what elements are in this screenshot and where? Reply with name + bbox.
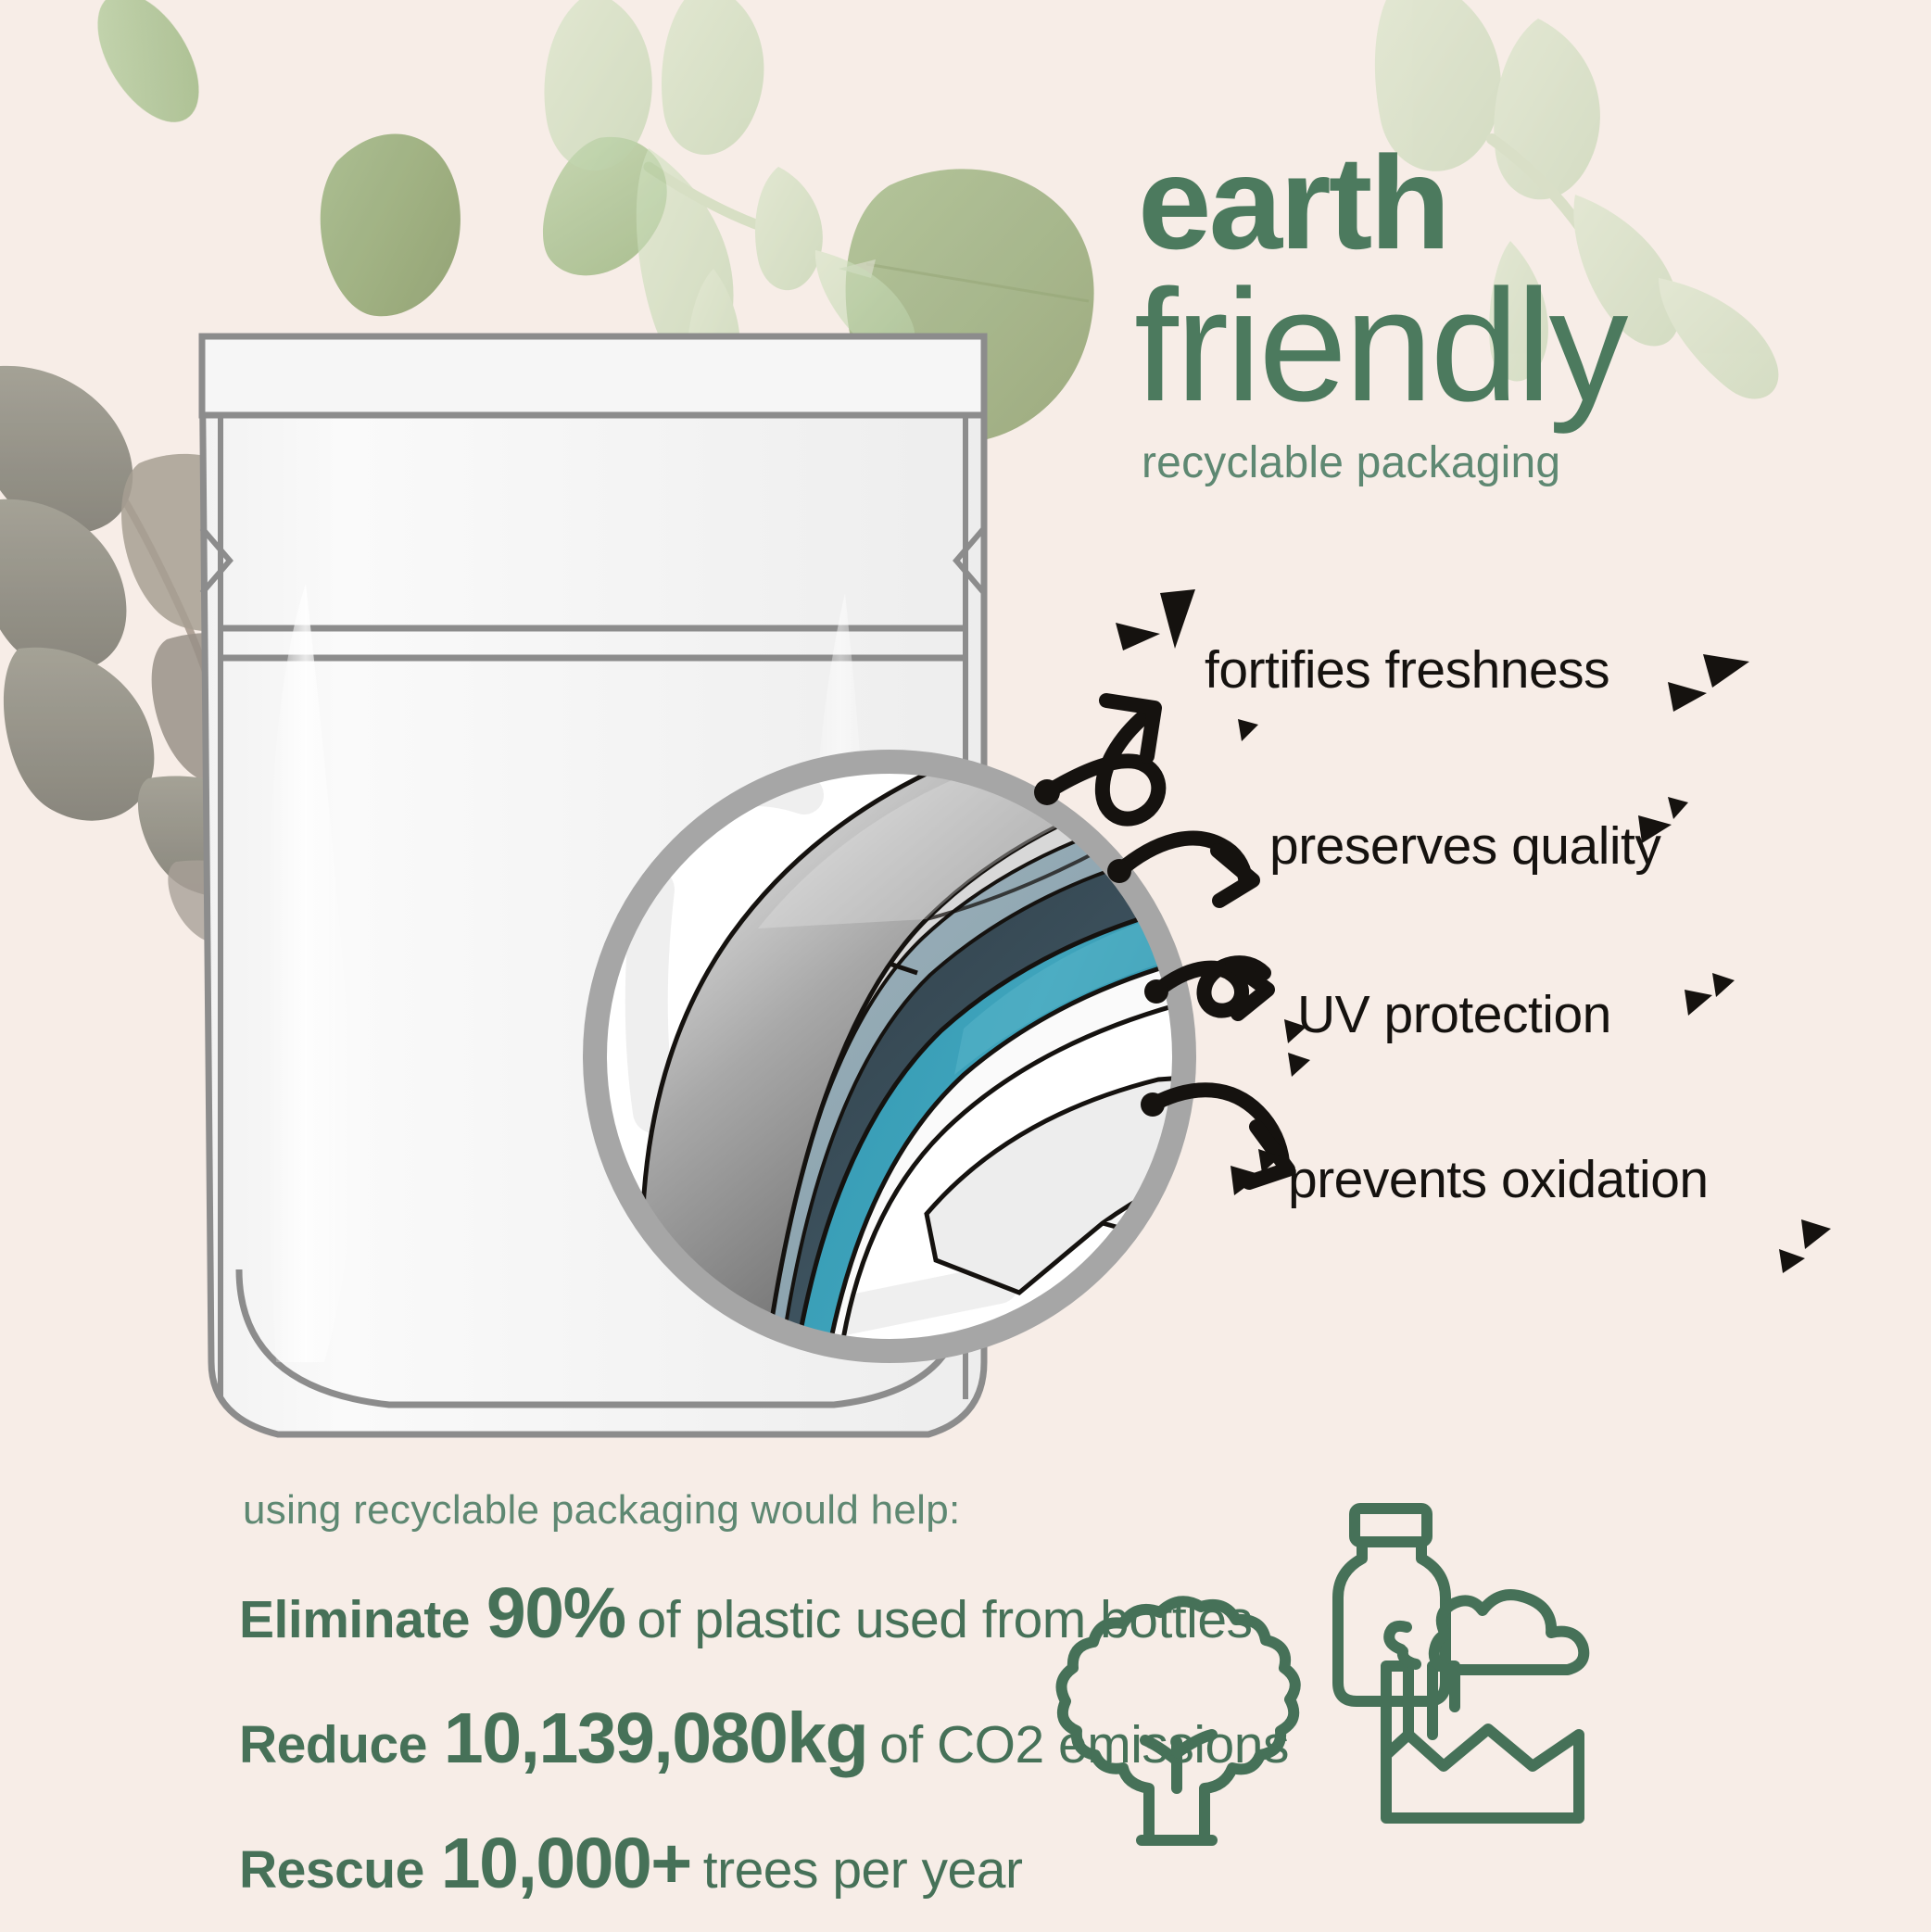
stats-intro-text: using recyclable packaging would help: [243,1487,1685,1534]
stat-value: 10,139,080kg [444,1698,867,1780]
stat-suffix: of plastic used from bottles [637,1589,1253,1650]
stat-value: 90% [486,1572,625,1655]
stat-verb: Rescue [239,1839,424,1900]
stat-verb: Eliminate [239,1589,470,1650]
stat-suffix: trees per year [703,1839,1023,1900]
stat-verb: Reduce [239,1714,427,1775]
stat-row-reduce: Reduce 10,139,080kg of CO2 emissions [239,1698,1685,1780]
infographic-canvas: earth friendly recyclable packaging fort… [0,0,1931,1932]
stat-value: 10,000+ [441,1823,691,1905]
statistics-block: using recyclable packaging would help: E… [239,1487,1685,1932]
stat-row-eliminate: Eliminate 90% of plastic used from bottl… [239,1572,1685,1655]
stat-row-rescue: Rescue 10,000+ trees per year [239,1823,1685,1905]
stat-suffix: of CO2 emissions [879,1714,1289,1775]
